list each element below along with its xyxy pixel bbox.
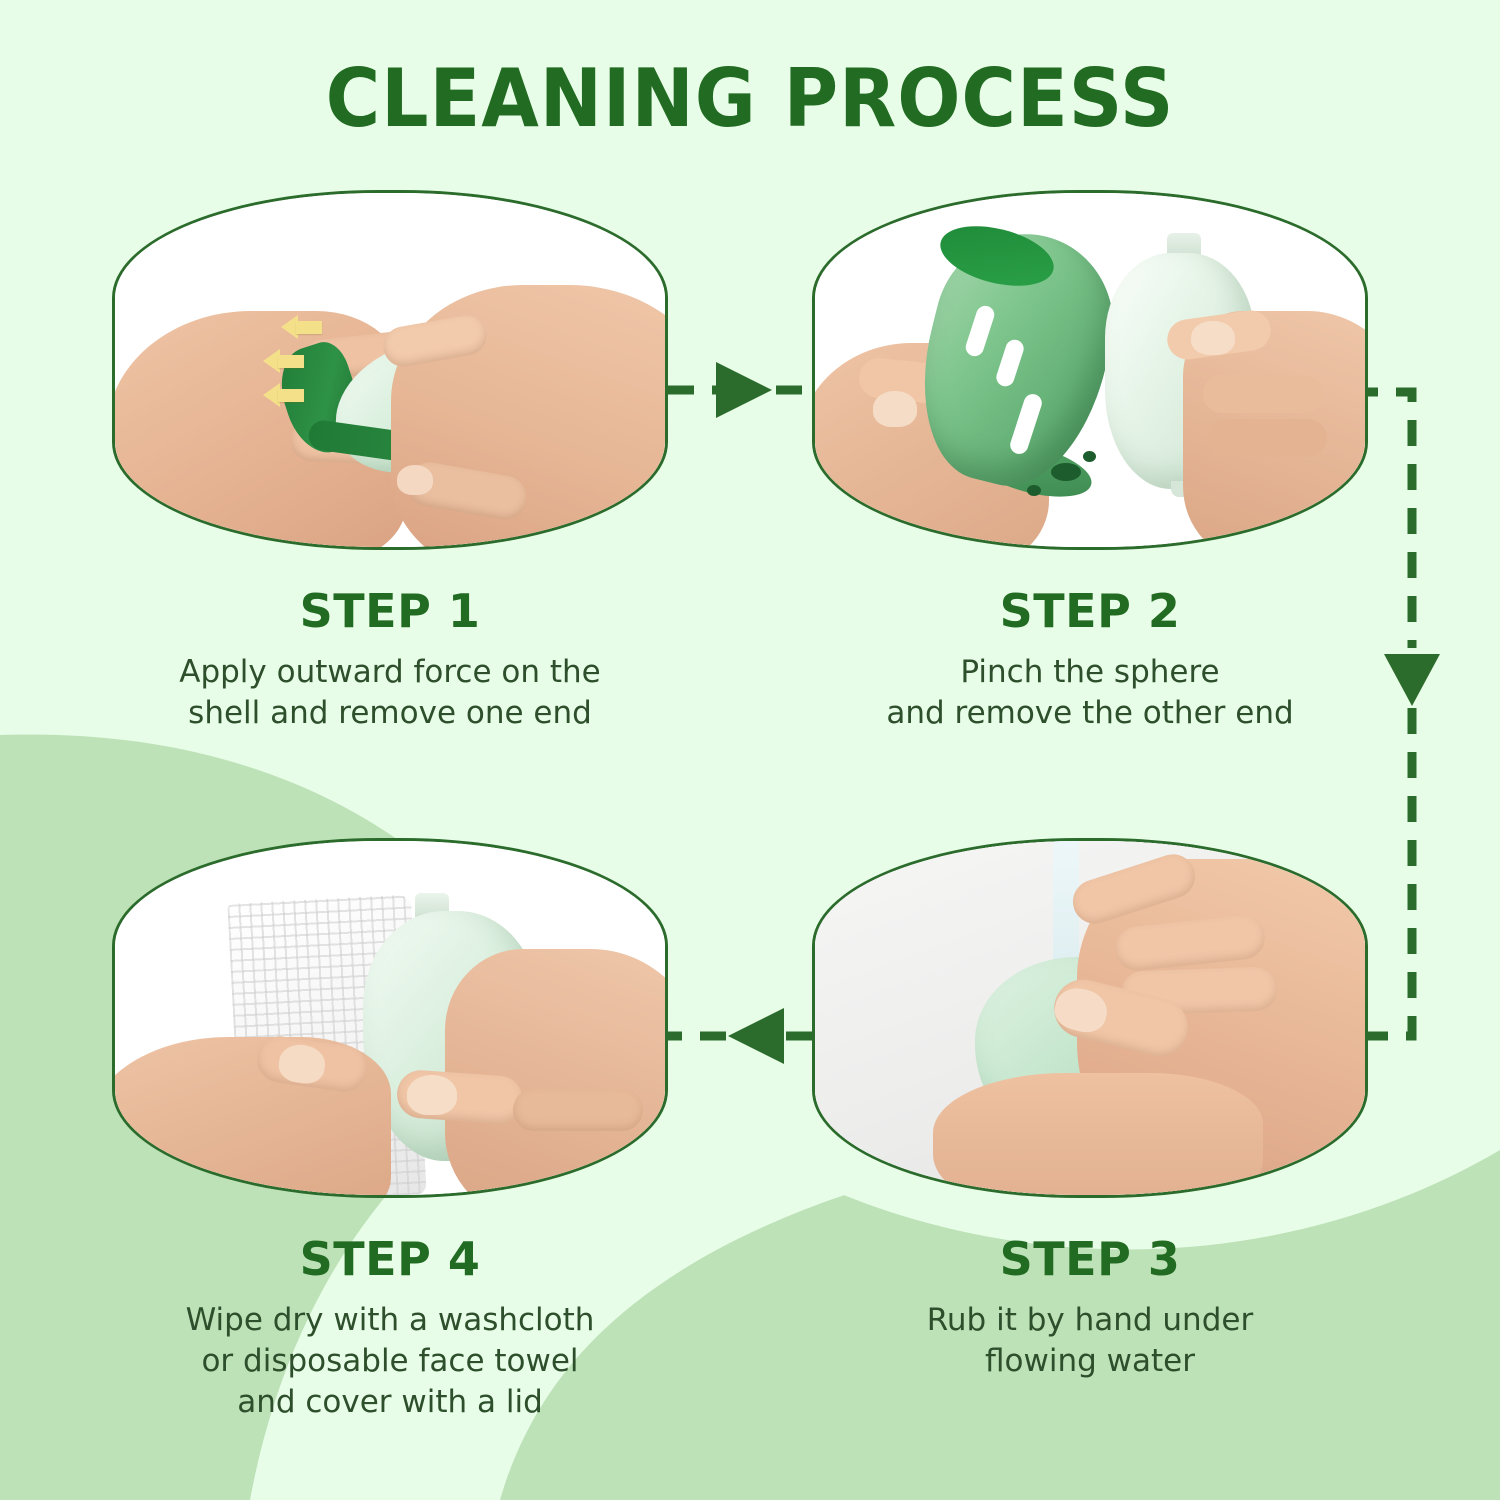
- step-3-photo-panel: [812, 838, 1368, 1198]
- step-4-photo: [115, 841, 665, 1195]
- shell-port: [1083, 451, 1096, 462]
- shell-port: [1027, 485, 1041, 496]
- step-2-photo-panel: [812, 190, 1368, 550]
- step-1-label: STEP 1: [112, 584, 668, 638]
- finger: [513, 1089, 643, 1131]
- shell-port: [1051, 463, 1081, 481]
- connector-step3-to-step4: [666, 1008, 812, 1064]
- supporting-hand: [933, 1073, 1263, 1198]
- step-card-1: STEP 1 Apply outward force on the shell …: [112, 190, 668, 734]
- fingernail: [873, 391, 917, 427]
- page-title: CLEANING PROCESS: [53, 52, 1448, 145]
- step-card-2: STEP 2 Pinch the sphere and remove the o…: [812, 190, 1368, 734]
- connector-step1-to-step2: [668, 362, 814, 418]
- step-1-photo: [115, 193, 665, 547]
- step-3-photo: [815, 841, 1365, 1195]
- step-3-description: Rub it by hand under flowing water: [812, 1300, 1368, 1382]
- fingernail: [397, 465, 433, 495]
- step-1-photo-panel: [112, 190, 668, 550]
- step-4-photo-panel: [112, 838, 668, 1198]
- finger: [1207, 419, 1327, 457]
- step-card-4: STEP 4 Wipe dry with a washcloth or disp…: [112, 838, 668, 1423]
- step-4-description: Wipe dry with a washcloth or disposable …: [112, 1300, 668, 1423]
- step-2-description: Pinch the sphere and remove the other en…: [812, 652, 1368, 734]
- step-2-label: STEP 2: [812, 584, 1368, 638]
- infographic-canvas: CLEANING PROCESS: [0, 0, 1500, 1500]
- step-card-3: STEP 3 Rub it by hand under flowing wate…: [812, 838, 1368, 1382]
- step-3-label: STEP 3: [812, 1232, 1368, 1286]
- step-4-label: STEP 4: [112, 1232, 668, 1286]
- step-2-photo: [815, 193, 1365, 547]
- fingernail: [1191, 321, 1235, 355]
- fingernail: [407, 1075, 457, 1115]
- finger: [1203, 375, 1323, 413]
- step-1-description: Apply outward force on the shell and rem…: [112, 652, 668, 734]
